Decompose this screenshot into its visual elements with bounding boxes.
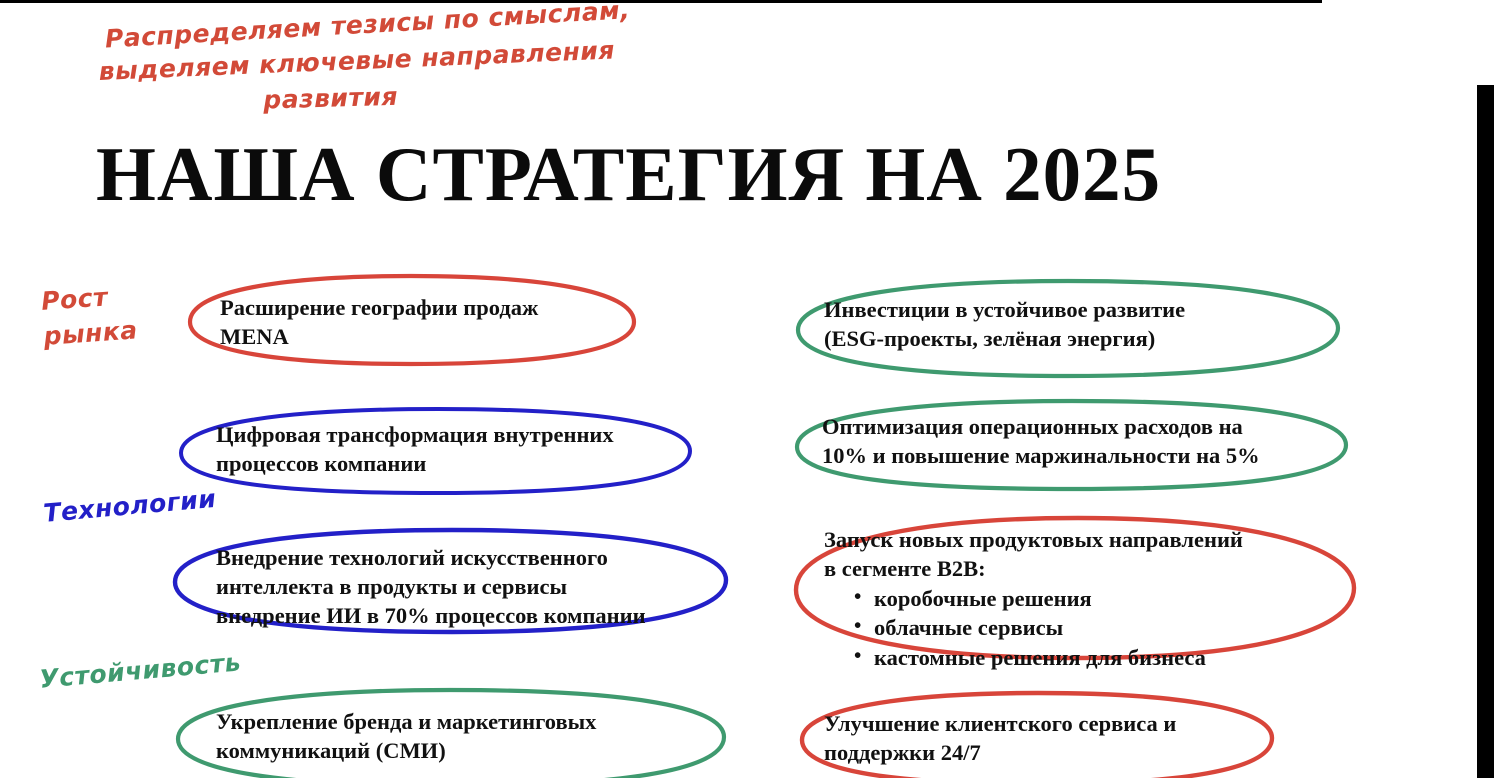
handwritten-annotation: Распределяем тезисы по смыслам, выделяем… [96,0,662,142]
bubble-customer-service[interactable]: Улучшение клиентского сервиса и поддержк… [796,688,1278,778]
bubble-sales-geography[interactable]: Расширение географии продаж MENA [176,272,646,368]
bubble-brand-marketing[interactable]: Укрепление бренда и маркетинговых коммун… [172,684,734,778]
bubble-text: Оптимизация операционных расходов на 10%… [822,413,1342,471]
bullet-item: облачные сервисы [874,613,1374,642]
bubble-esg-investment[interactable]: Инвестиции в устойчивое развитие (ESG-пр… [792,276,1344,380]
page-title: НАША СТРАТЕГИЯ НА 2025 [96,136,1441,213]
top-border-rule [0,0,1322,3]
bubble-heading: Запуск новых продуктовых направлений в с… [824,526,1344,584]
bubble-text: Укрепление бренда и маркетинговых коммун… [216,708,716,766]
bubble-text: Улучшение клиентского сервиса и поддержк… [824,710,1264,768]
section-label-growth: Рост рынка [40,277,139,353]
bubble-digital-transformation[interactable]: Цифровая трансформация внутренних процес… [176,404,696,498]
bubble-text: Расширение географии продаж MENA [220,294,640,352]
bubble-cost-optimization[interactable]: Оптимизация операционных расходов на 10%… [792,396,1352,494]
bubble-b2b-products[interactable]: Запуск новых продуктовых направлений в с… [790,512,1360,664]
bubble-text: Инвестиции в устойчивое развитие (ESG-пр… [824,296,1324,354]
bubble-ai-implementation[interactable]: Внедрение технологий искусственного инте… [170,524,732,638]
bubble-bullet-list: коробочные решения облачные сервисы каст… [848,584,1374,672]
bullet-item: кастомные решения для бизнеса [874,643,1374,672]
bubble-text: Внедрение технологий искусственного инте… [216,544,736,630]
bubble-text: Цифровая трансформация внутренних процес… [216,421,706,479]
right-edge-bar [1477,85,1494,778]
slide-canvas: Распределяем тезисы по смыслам, выделяем… [0,0,1494,778]
bullet-item: коробочные решения [874,584,1374,613]
